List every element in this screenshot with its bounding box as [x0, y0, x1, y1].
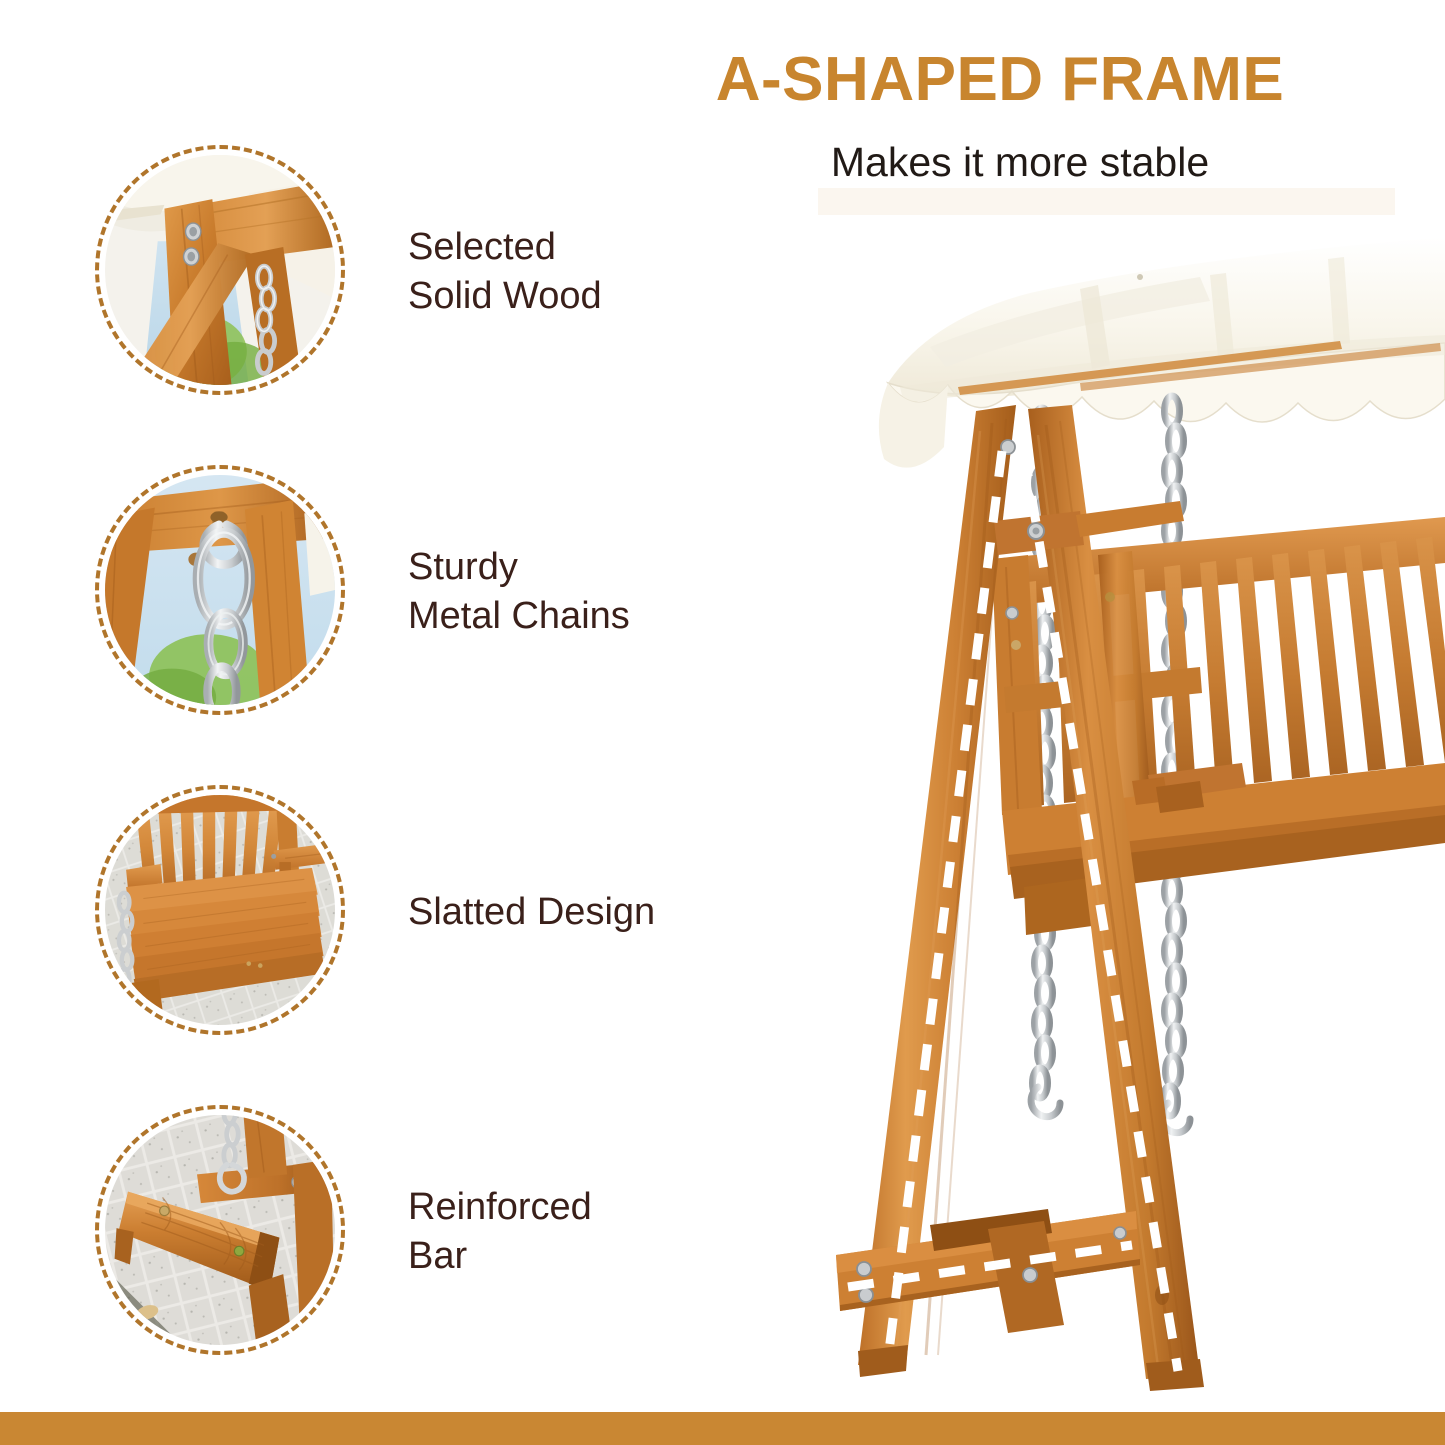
feature-list: Selected Solid Wood	[0, 0, 780, 1445]
product-hero-image	[780, 215, 1445, 1400]
feature-thumbnail-sturdy-metal-chains	[95, 465, 345, 715]
feature-label-reinforced-bar: Reinforced Bar	[408, 1183, 768, 1280]
slatted-bench-photo-icon	[105, 795, 335, 1025]
reinforced-bar-photo-icon	[105, 1115, 335, 1345]
feature-item-reinforced-bar: Reinforced Bar	[0, 1105, 780, 1355]
feature-thumbnail-slatted-design	[95, 785, 345, 1035]
feature-label-sturdy-metal-chains: Sturdy Metal Chains	[408, 543, 768, 640]
footer-accent-bar	[0, 1412, 1445, 1445]
feature-thumbnail-reinforced-bar	[95, 1105, 345, 1355]
feature-item-slatted-design: Slatted Design	[0, 785, 780, 1035]
feature-thumbnail-selected-solid-wood	[95, 145, 345, 395]
feature-label-selected-solid-wood: Selected Solid Wood	[408, 223, 768, 320]
feature-label-slatted-design: Slatted Design	[408, 888, 768, 937]
wood-joint-photo-icon	[105, 155, 335, 385]
feature-item-sturdy-metal-chains: Sturdy Metal Chains	[0, 465, 780, 715]
metal-chain-photo-icon	[105, 475, 335, 705]
feature-item-selected-solid-wood: Selected Solid Wood	[0, 145, 780, 395]
